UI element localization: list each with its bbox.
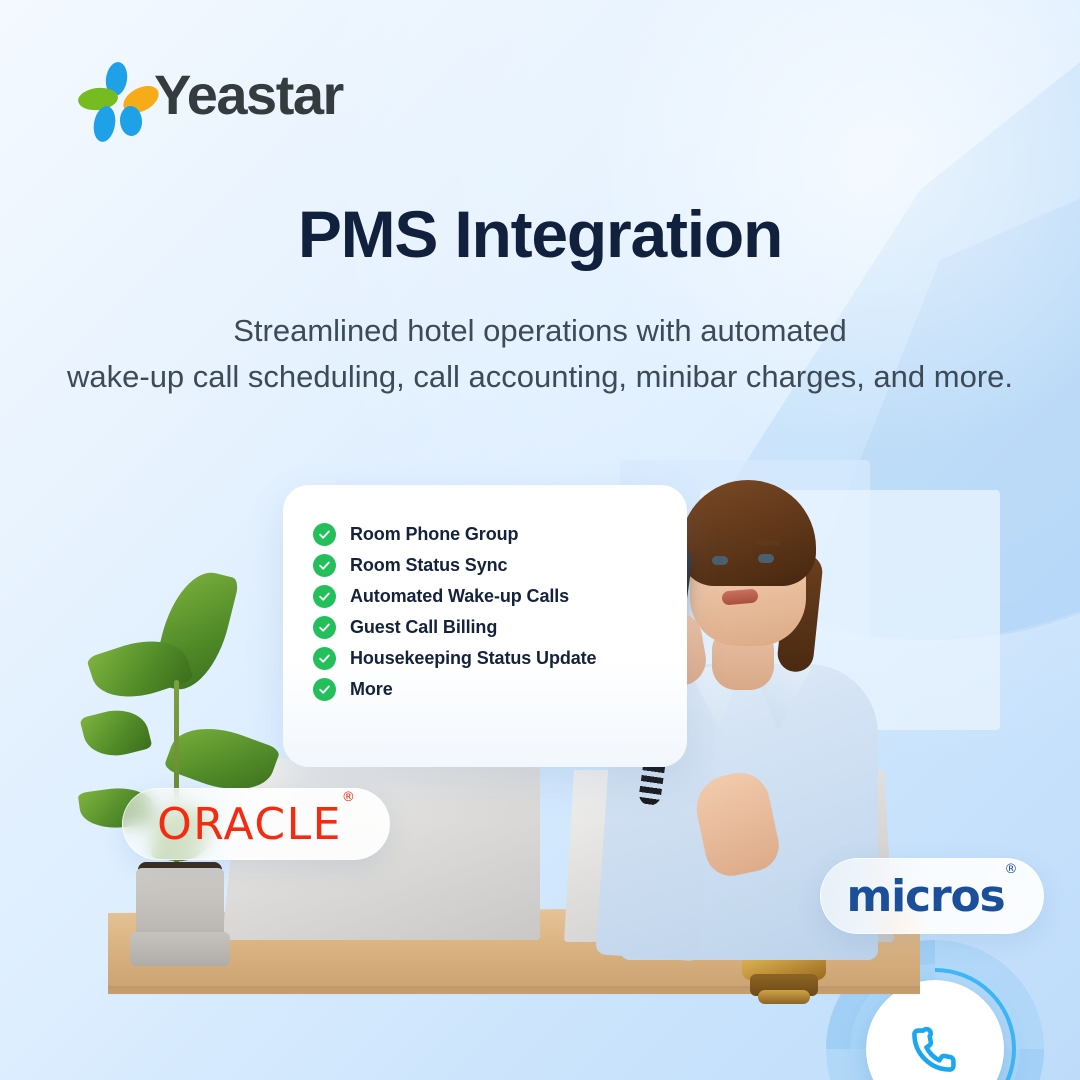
list-item[interactable]: More [313,674,683,705]
page-title: PMS Integration [0,196,1080,272]
oracle-registered-mark: ® [342,790,355,805]
list-item[interactable]: Room Phone Group [313,519,683,550]
micros-badge[interactable]: micros® [820,858,1044,934]
micros-label: micros [847,871,1005,922]
phone-handset-icon [909,1023,961,1075]
feature-label: Guest Call Billing [350,617,497,638]
feature-card: Room Phone Group Room Status Sync Automa… [283,485,687,767]
feature-label: More [350,679,393,700]
check-circle-icon [313,616,336,639]
list-item[interactable]: Guest Call Billing [313,612,683,643]
check-circle-icon [313,678,336,701]
logo-wordmark: Yeastar [154,67,343,123]
page-subtitle: Streamlined hotel operations with automa… [0,308,1080,399]
check-circle-icon [313,585,336,608]
list-item[interactable]: Housekeeping Status Update [313,643,683,674]
promo-canvas: Yeastar PMS Integration Streamlined hote… [0,0,1080,1080]
feature-list: Room Phone Group Room Status Sync Automa… [313,519,683,705]
yeastar-pinwheel-icon [78,62,142,128]
list-item[interactable]: Room Status Sync [313,550,683,581]
feature-label: Housekeeping Status Update [350,648,596,669]
check-circle-icon [313,647,336,670]
logo-petal-green [77,86,119,112]
potted-plant [78,560,278,1000]
check-circle-icon [313,523,336,546]
oracle-label: ORACLE [157,799,342,850]
logo-petal-bottom-left [91,104,118,143]
oracle-wordmark: ORACLE® [157,799,355,850]
feature-label: Room Phone Group [350,524,518,545]
service-bell-foot [758,990,810,1004]
eye-left [712,556,728,565]
micros-wordmark: micros® [847,871,1018,922]
micros-registered-mark: ® [1004,862,1017,877]
subtitle-line-2: wake-up call scheduling, call accounting… [0,354,1080,400]
yeastar-logo[interactable]: Yeastar [78,62,343,128]
plant-leaf [79,703,152,763]
oracle-badge[interactable]: ORACLE® [122,788,390,860]
plant-pot-base [130,932,230,966]
receptionist-hair [680,480,816,586]
check-circle-icon [313,554,336,577]
subtitle-line-1: Streamlined hotel operations with automa… [0,308,1080,354]
eye-right [758,554,774,563]
list-item[interactable]: Automated Wake-up Calls [313,581,683,612]
feature-label: Automated Wake-up Calls [350,586,569,607]
feature-label: Room Status Sync [350,555,507,576]
